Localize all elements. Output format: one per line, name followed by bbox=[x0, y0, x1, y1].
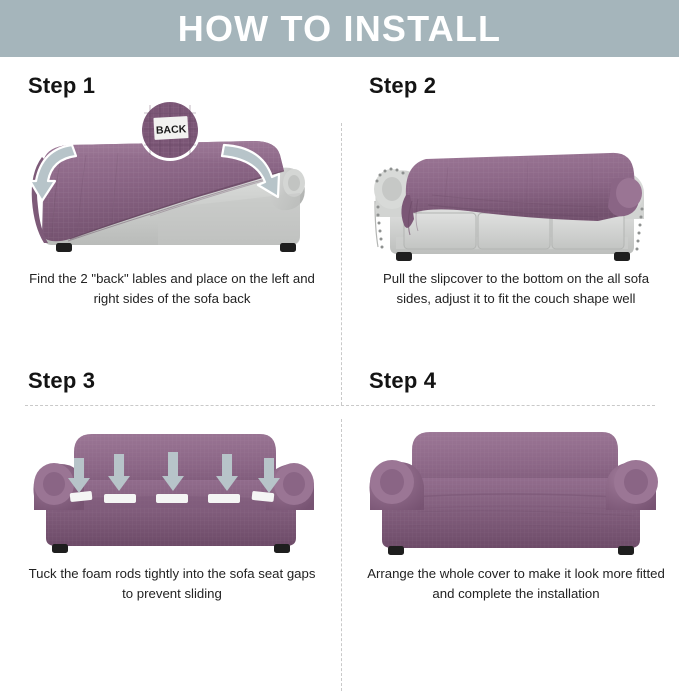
step-4-illustration bbox=[348, 392, 672, 564]
step-2-caption: Pull the slipcover to the bottom on the … bbox=[366, 269, 666, 309]
step-3-caption: Tuck the foam rods tightly into the sofa… bbox=[22, 564, 322, 604]
page-title: HOW TO INSTALL bbox=[178, 11, 501, 47]
step-3-title: Step 3 bbox=[28, 368, 95, 394]
step-panel-4: Step 4 bbox=[340, 352, 679, 648]
step-2-illustration bbox=[348, 97, 672, 269]
step-1-illustration: BACK bbox=[8, 97, 332, 269]
back-label-callout: BACK bbox=[139, 99, 201, 161]
step-3-illustration bbox=[8, 392, 332, 564]
steps-grid: Step 1 bbox=[0, 57, 679, 649]
divider-horizontal bbox=[25, 405, 655, 406]
step-1-title: Step 1 bbox=[28, 73, 95, 99]
step-2-title: Step 2 bbox=[369, 73, 436, 99]
header-banner: HOW TO INSTALL bbox=[0, 0, 679, 57]
step-panel-3: Step 3 bbox=[0, 352, 339, 648]
step-panel-1: Step 1 bbox=[0, 57, 339, 353]
divider-vertical-top bbox=[341, 123, 342, 405]
step-panel-2: Step 2 bbox=[340, 57, 679, 353]
step-1-caption: Find the 2 "back" lables and place on th… bbox=[22, 269, 322, 309]
step-4-caption: Arrange the whole cover to make it look … bbox=[366, 564, 666, 604]
back-label-text: BACK bbox=[156, 123, 187, 137]
divider-vertical-bottom bbox=[341, 419, 342, 691]
step-4-title: Step 4 bbox=[369, 368, 436, 394]
